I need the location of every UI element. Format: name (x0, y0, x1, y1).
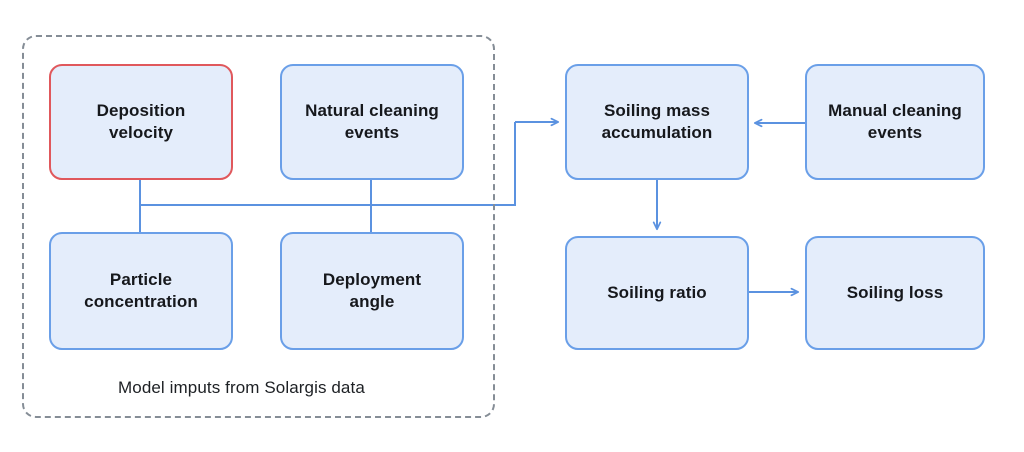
node-deployment-angle-line1: Deployment (323, 270, 421, 289)
node-natural-cleaning-events-line2: events (345, 123, 399, 142)
node-manual-cleaning-events[interactable]: Manual cleaning events (805, 64, 985, 180)
node-soiling-mass-accumulation-line2: accumulation (602, 123, 713, 142)
node-deployment-angle-label: Deployment angle (323, 269, 421, 314)
node-deployment-angle[interactable]: Deployment angle (280, 232, 464, 350)
node-soiling-ratio-label: Soiling ratio (607, 282, 707, 304)
node-soiling-mass-accumulation[interactable]: Soiling mass accumulation (565, 64, 749, 180)
node-manual-cleaning-events-line2: events (868, 123, 922, 142)
node-deposition-velocity-line1: Deposition (97, 101, 186, 120)
node-natural-cleaning-events-line1: Natural cleaning (305, 101, 439, 120)
node-deposition-velocity-label: Deposition velocity (97, 100, 186, 145)
node-soiling-loss-label: Soiling loss (847, 282, 944, 304)
node-particle-concentration-line1: Particle (110, 270, 172, 289)
node-soiling-mass-accumulation-line1: Soiling mass (604, 101, 710, 120)
node-manual-cleaning-events-label: Manual cleaning events (828, 100, 962, 145)
node-particle-concentration-label: Particle concentration (84, 269, 198, 314)
node-particle-concentration-line2: concentration (84, 292, 198, 311)
node-soiling-mass-accumulation-label: Soiling mass accumulation (602, 100, 713, 145)
flow-diagram: Model imputs from Solargis data Depositi… (0, 0, 1024, 452)
model-inputs-group-caption: Model imputs from Solargis data (118, 378, 365, 398)
node-deployment-angle-line2: angle (350, 292, 395, 311)
node-deposition-velocity-line2: velocity (109, 123, 173, 142)
node-soiling-loss[interactable]: Soiling loss (805, 236, 985, 350)
node-manual-cleaning-events-line1: Manual cleaning (828, 101, 962, 120)
node-soiling-ratio[interactable]: Soiling ratio (565, 236, 749, 350)
node-deposition-velocity[interactable]: Deposition velocity (49, 64, 233, 180)
node-natural-cleaning-events[interactable]: Natural cleaning events (280, 64, 464, 180)
node-natural-cleaning-events-label: Natural cleaning events (305, 100, 439, 145)
node-particle-concentration[interactable]: Particle concentration (49, 232, 233, 350)
